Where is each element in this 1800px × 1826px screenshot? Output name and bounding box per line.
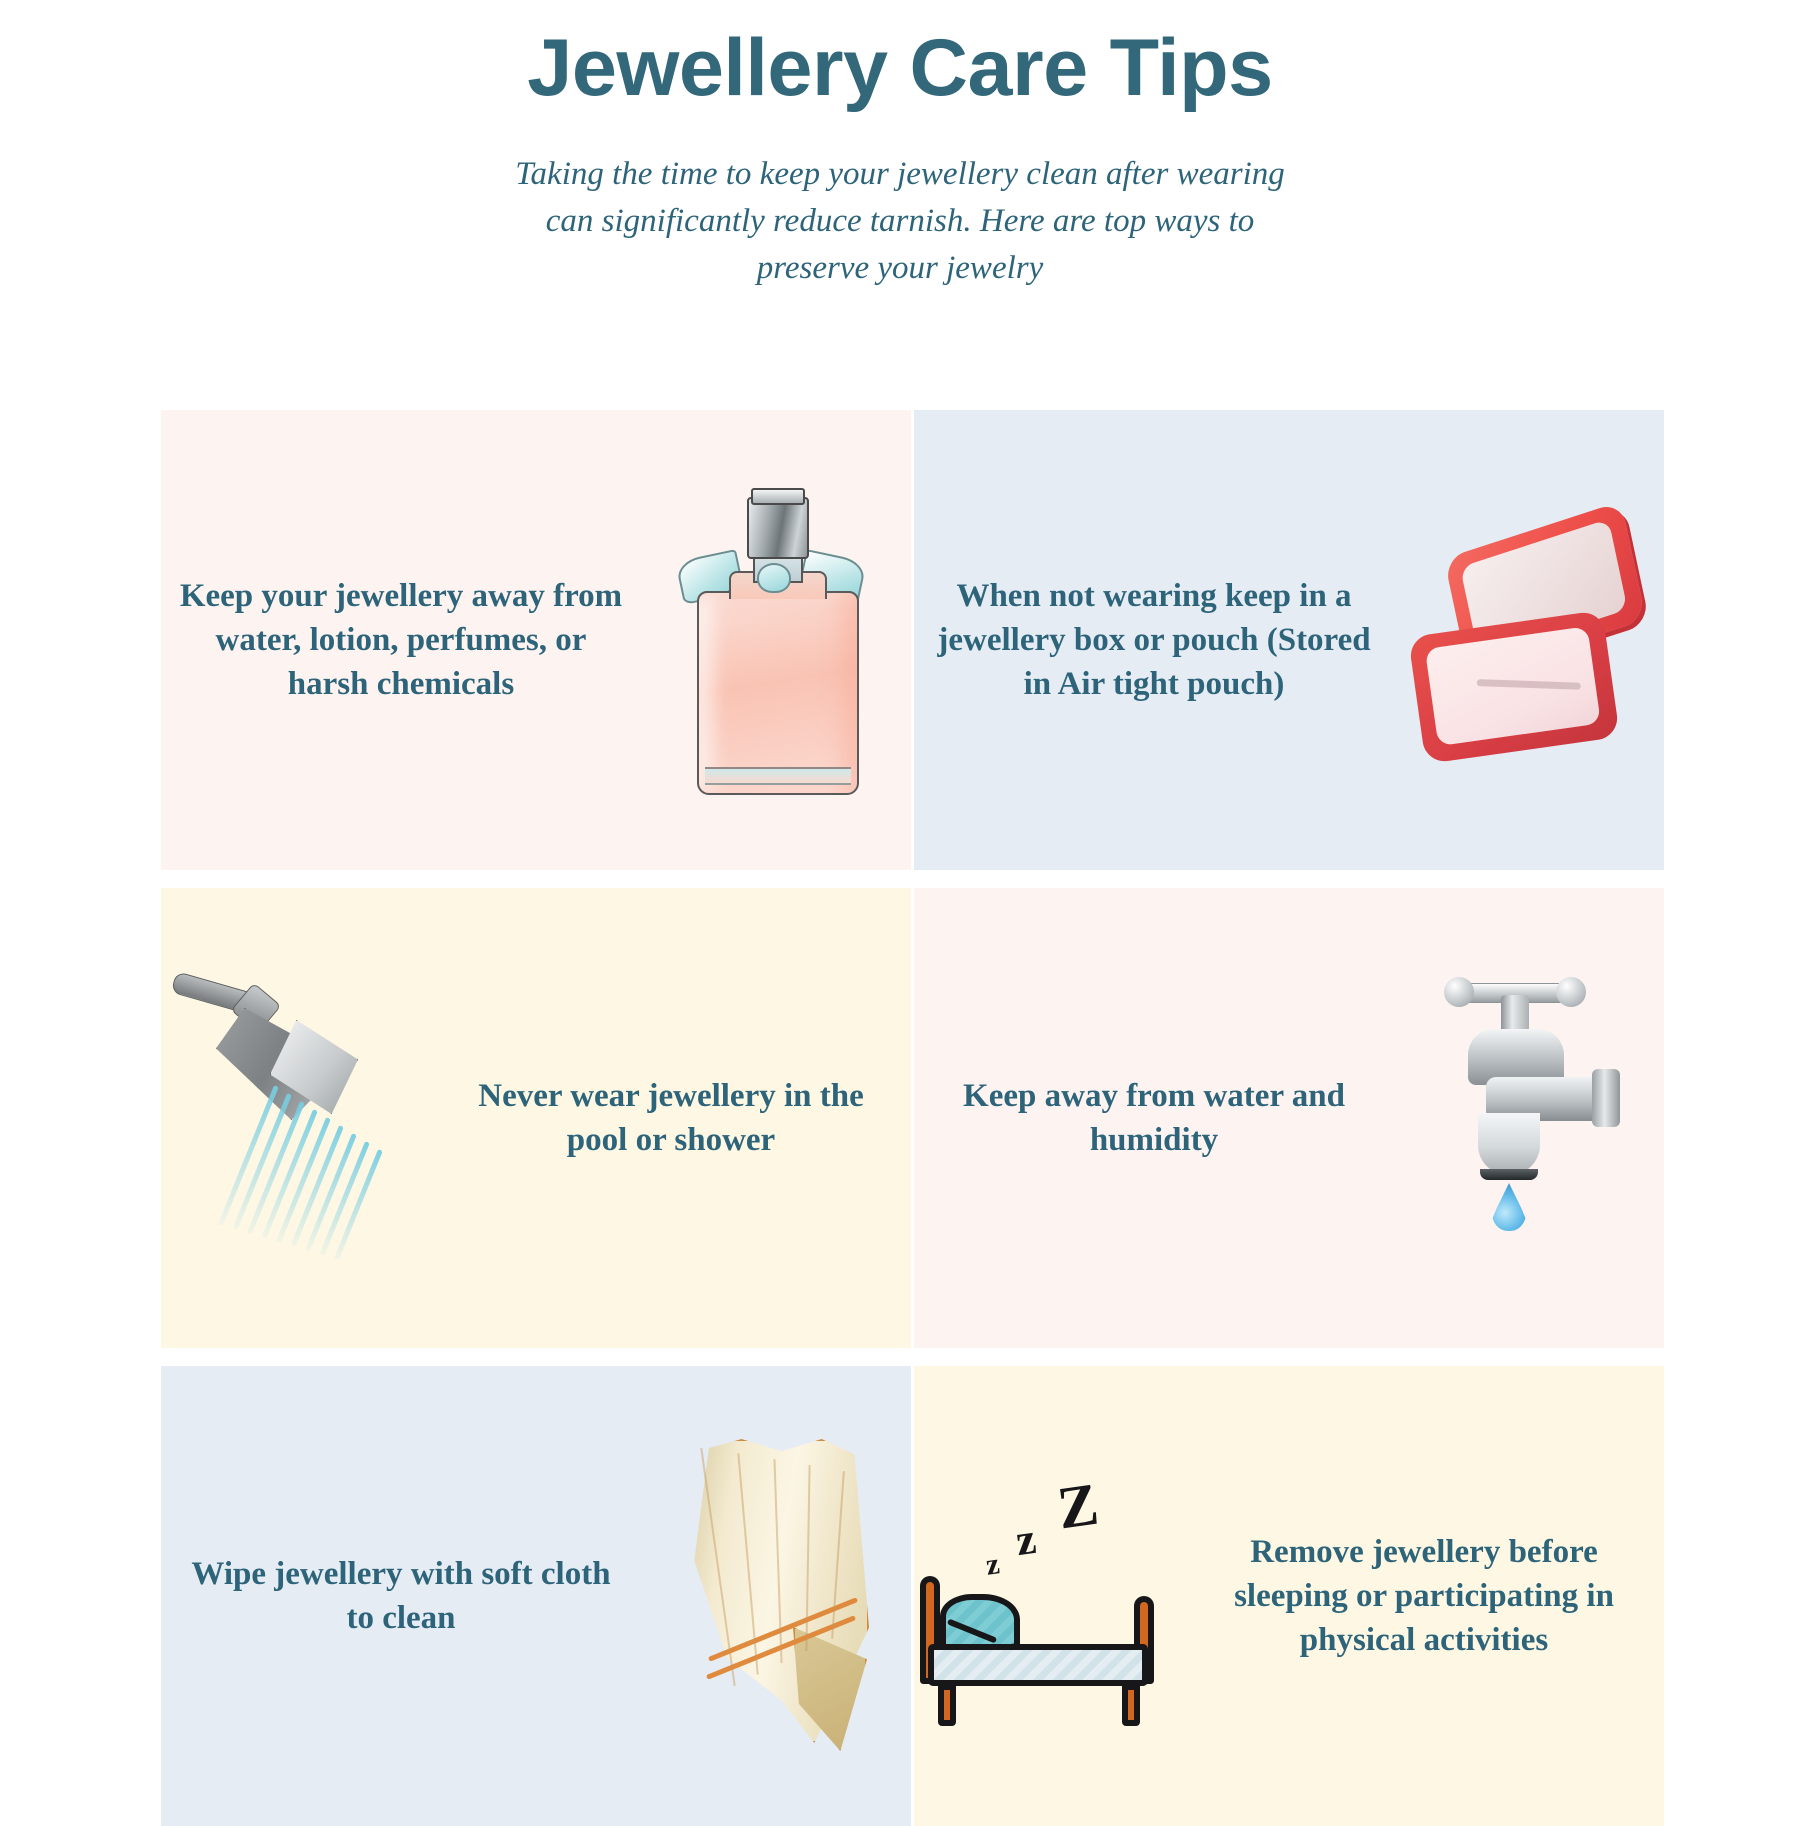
perfume-bottle-body [697, 591, 859, 795]
bed-sleeping-icon: z z Z [914, 1431, 1184, 1761]
water-drop-icon [1492, 1183, 1526, 1231]
header: Jewellery Care Tips Taking the time to k… [0, 0, 1800, 292]
tip-text: Never wear jewellery in the pool or show… [431, 1074, 911, 1162]
sleep-z-small-icon: z [984, 1547, 1002, 1583]
ring-box-illustration [1404, 515, 1654, 765]
tips-grid: Keep your jewellery away from water, lot… [161, 410, 1664, 1826]
faucet-icon [1394, 953, 1664, 1283]
faucet-illustration [1404, 973, 1654, 1263]
faucet-handle-right [1556, 977, 1586, 1007]
perfume-bow-knot [757, 563, 791, 593]
ring-box-slot [1477, 679, 1581, 690]
perfume-cap [747, 497, 809, 559]
shower-illustration [166, 968, 426, 1268]
bed-illustration: z z Z [914, 1456, 1184, 1736]
tip-text: When not wearing keep in a jewellery box… [914, 574, 1394, 707]
perfume-bottle-icon [641, 475, 911, 805]
tip-text: Keep away from water and humidity [914, 1074, 1394, 1162]
tip-text: Wipe jewellery with soft cloth to clean [161, 1552, 641, 1640]
ring-box-base [1408, 610, 1620, 764]
bed-leg-right [1122, 1684, 1140, 1726]
bed-mattress [928, 1644, 1148, 1686]
faucet-stem [1501, 995, 1529, 1033]
faucet-end-cap [1592, 1069, 1620, 1127]
page-subtitle: Taking the time to keep your jewellery c… [500, 151, 1300, 292]
ring-box-icon [1394, 475, 1664, 805]
cloth-illustration [651, 1431, 901, 1761]
cloth-icon [641, 1431, 911, 1761]
tip-card-sleep: Remove jewellery before sleeping or part… [914, 1366, 1664, 1826]
tip-text: Remove jewellery before sleeping or part… [1184, 1530, 1664, 1663]
tip-card-chemicals: Keep your jewellery away from water, lot… [161, 410, 911, 870]
sleep-z-large-icon: Z [1053, 1470, 1102, 1544]
bed-leg-left [938, 1684, 956, 1726]
tip-text: Keep your jewellery away from water, lot… [161, 574, 641, 707]
tip-card-humidity: Keep away from water and humidity [914, 888, 1664, 1348]
ring-box-base-lining [1425, 626, 1601, 746]
perfume-cap-top [751, 488, 805, 505]
faucet-handle-left [1444, 977, 1474, 1007]
perfume-bottle-illustration [661, 475, 891, 805]
sleep-z-medium-icon: z [1013, 1513, 1039, 1566]
faucet-spout-rim [1480, 1169, 1538, 1180]
tip-card-shower: Never wear jewellery in the pool or show… [161, 888, 911, 1348]
page-title: Jewellery Care Tips [0, 26, 1800, 111]
tip-card-storage: When not wearing keep in a jewellery box… [914, 410, 1664, 870]
faucet-spout [1478, 1113, 1540, 1175]
shower-water-stream [218, 1085, 279, 1226]
tip-card-wipe: Wipe jewellery with soft cloth to clean [161, 1366, 911, 1826]
infographic-page: Jewellery Care Tips Taking the time to k… [0, 0, 1800, 1800]
shower-head-icon [161, 953, 431, 1283]
